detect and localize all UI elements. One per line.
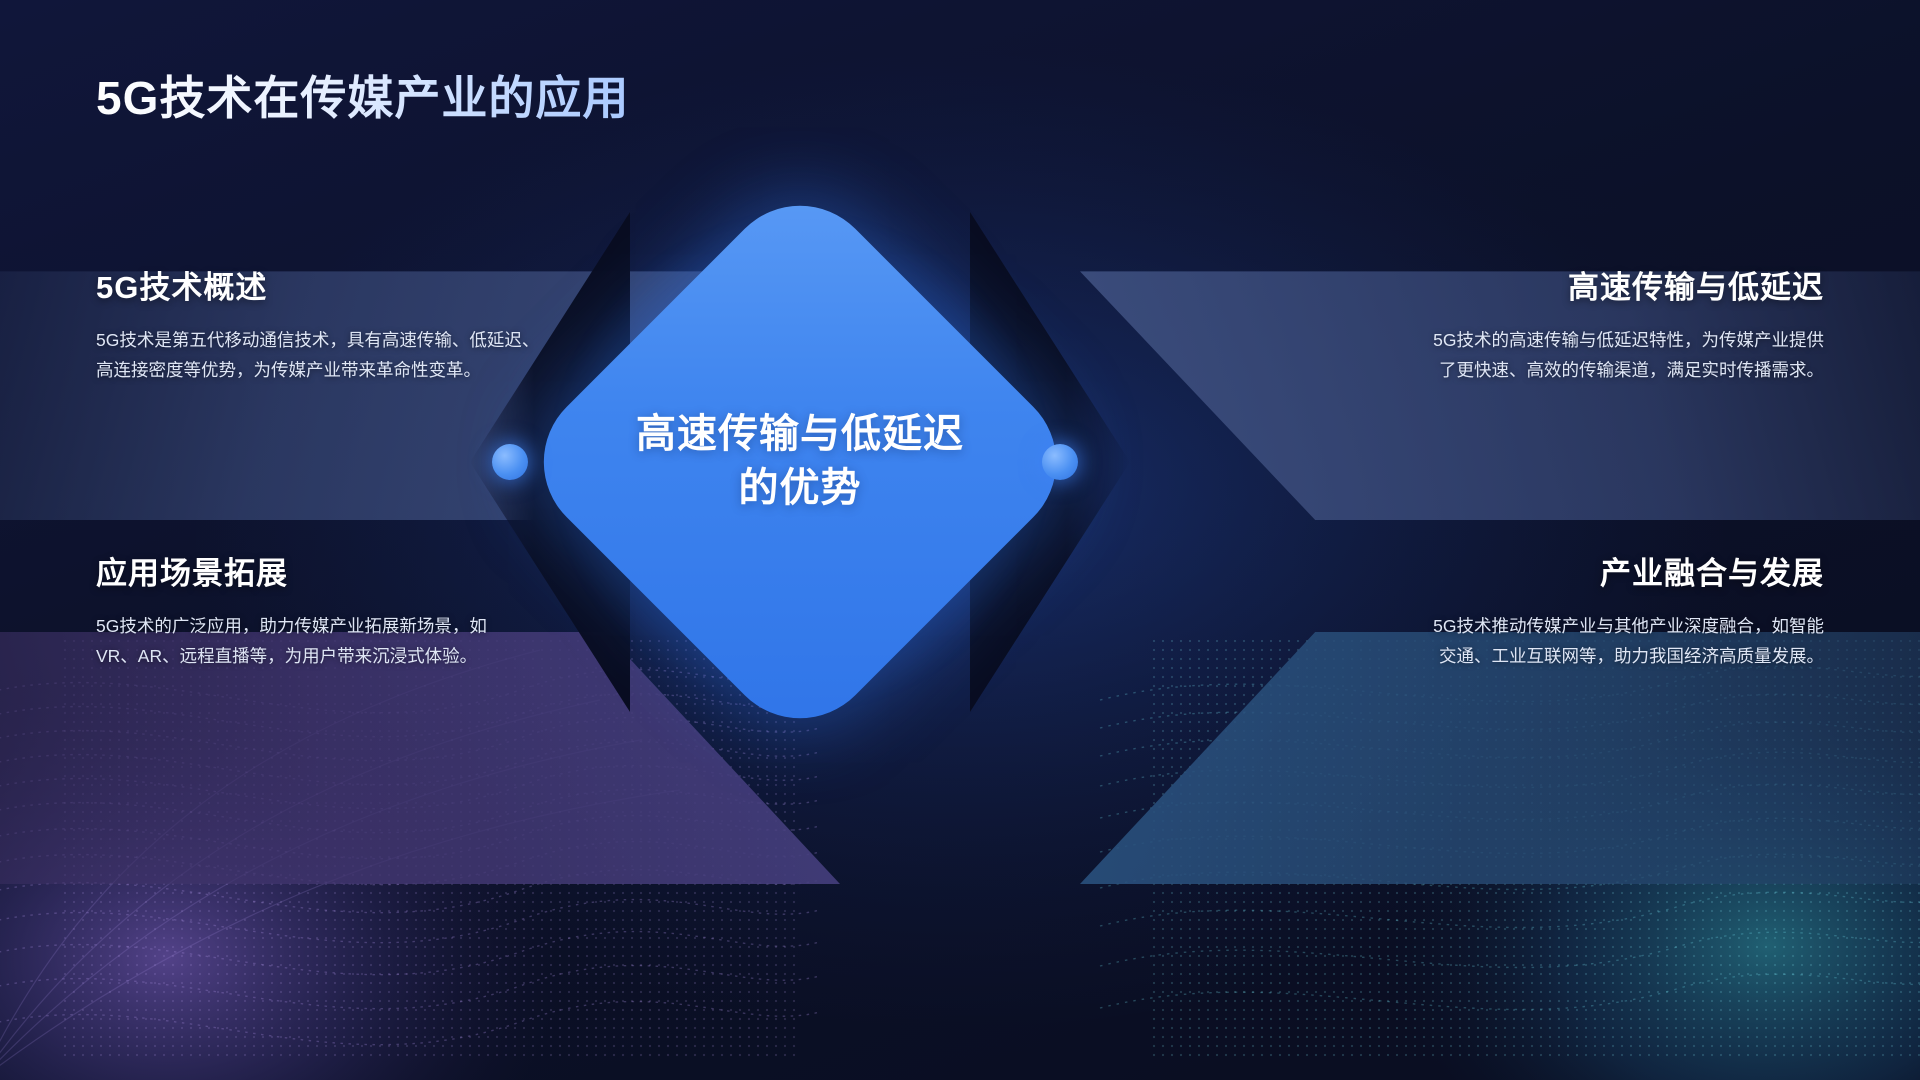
block-bottom-right-heading: 产业融合与发展: [1294, 548, 1824, 593]
block-top-right-body: 5G技术的高速传输与低延迟特性，为传媒产业提供 了更快速、高效的传输渠道，满足实…: [1294, 325, 1824, 385]
block-top-left-body: 5G技术是第五代移动通信技术，具有高速传输、低延迟、 高连接密度等优势，为传媒产…: [96, 325, 626, 385]
page-title: 5G技术在传媒产业的应用: [96, 62, 629, 128]
block-bottom-left-body: 5G技术的广泛应用，助力传媒产业拓展新场景，如 VR、AR、远程直播等，为用户带…: [96, 611, 626, 671]
block-top-left-heading: 5G技术概述: [96, 262, 626, 307]
center-diamond-label: 高速传输与低延迟 的优势: [596, 258, 1004, 666]
block-bottom-left-heading: 应用场景拓展: [96, 548, 626, 593]
block-top-right: 高速传输与低延迟 5G技术的高速传输与低延迟特性，为传媒产业提供 了更快速、高效…: [1294, 262, 1824, 385]
slide-canvas: 高速传输与低延迟 的优势 5G技术在传媒产业的应用 5G技术概述 5G技术是第五…: [0, 0, 1920, 1080]
block-bottom-right: 产业融合与发展 5G技术推动传媒产业与其他产业深度融合，如智能 交通、工业互联网…: [1294, 548, 1824, 671]
center-label-line-1: 高速传输与低延迟: [636, 408, 964, 462]
center-label-line-2: 的优势: [739, 462, 862, 516]
block-bottom-right-body: 5G技术推动传媒产业与其他产业深度融合，如智能 交通、工业互联网等，助力我国经济…: [1294, 611, 1824, 671]
right-connector-dot[interactable]: [1042, 444, 1078, 480]
block-top-right-heading: 高速传输与低延迟: [1294, 262, 1824, 307]
block-bottom-left: 应用场景拓展 5G技术的广泛应用，助力传媒产业拓展新场景，如 VR、AR、远程直…: [96, 548, 626, 671]
left-connector-dot[interactable]: [492, 444, 528, 480]
block-top-left: 5G技术概述 5G技术是第五代移动通信技术，具有高速传输、低延迟、 高连接密度等…: [96, 262, 626, 385]
panel-bottom-right: [1080, 632, 1920, 932]
